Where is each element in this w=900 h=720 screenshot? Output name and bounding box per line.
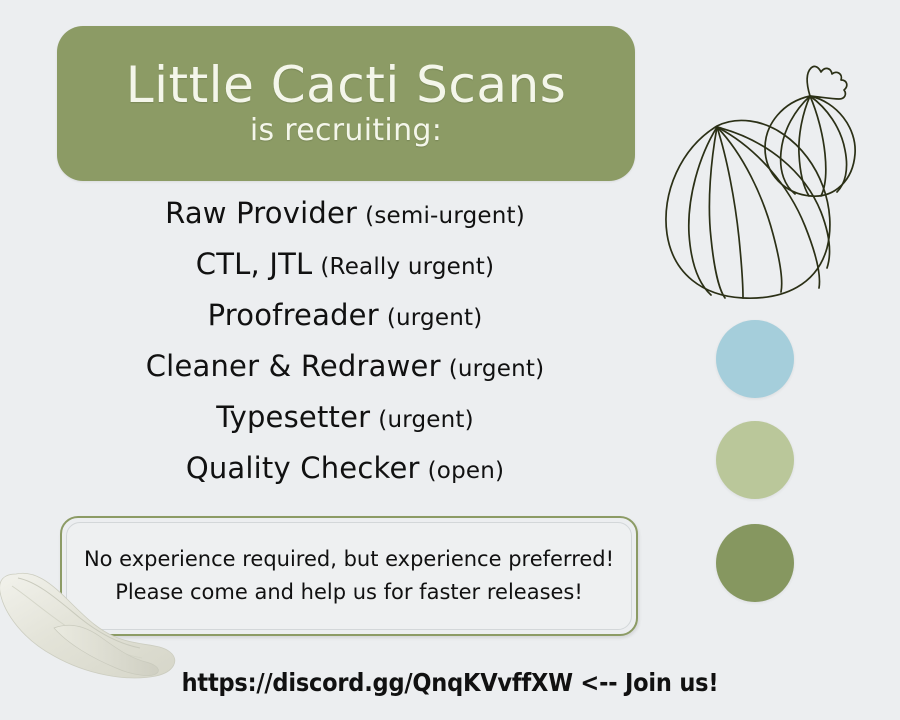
color-swatch-olive-green (716, 524, 794, 602)
role-status: (semi-urgent) (365, 203, 525, 229)
list-item: Raw Provider (semi-urgent) (165, 196, 525, 247)
list-item: Proofreader (urgent) (208, 298, 483, 349)
role-status: (Really urgent) (320, 254, 494, 280)
header-banner: Little Cacti Scans is recruiting: (57, 26, 635, 181)
role-status: (urgent) (449, 356, 545, 382)
role-name: CTL, JTL (196, 247, 313, 281)
banner-subtitle: is recruiting: (250, 113, 442, 148)
recruitment-poster: Little Cacti Scans is recruiting: Raw Pr… (0, 0, 900, 720)
role-name: Cleaner & Redrawer (146, 349, 441, 383)
list-item: Cleaner & Redrawer (urgent) (146, 349, 545, 400)
role-name: Proofreader (208, 298, 379, 332)
color-swatch-light-blue (716, 320, 794, 398)
paper-ribbon-decoration (0, 552, 204, 682)
discord-link-text[interactable]: https://discord.gg/QnqKVvffXW <-- Join u… (182, 668, 719, 697)
cactus-icon (655, 48, 900, 310)
list-item: CTL, JTL (Really urgent) (196, 247, 494, 298)
color-swatch-pale-sage (716, 421, 794, 499)
role-name: Typesetter (216, 400, 370, 434)
role-name: Raw Provider (165, 196, 357, 230)
roles-list: Raw Provider (semi-urgent) CTL, JTL (Rea… (45, 196, 645, 502)
list-item: Typesetter (urgent) (216, 400, 474, 451)
role-status: (open) (428, 458, 505, 484)
role-status: (urgent) (387, 305, 483, 331)
list-item: Quality Checker (open) (186, 451, 504, 502)
role-name: Quality Checker (186, 451, 420, 485)
page-title: Little Cacti Scans (126, 59, 567, 112)
role-status: (urgent) (378, 407, 474, 433)
